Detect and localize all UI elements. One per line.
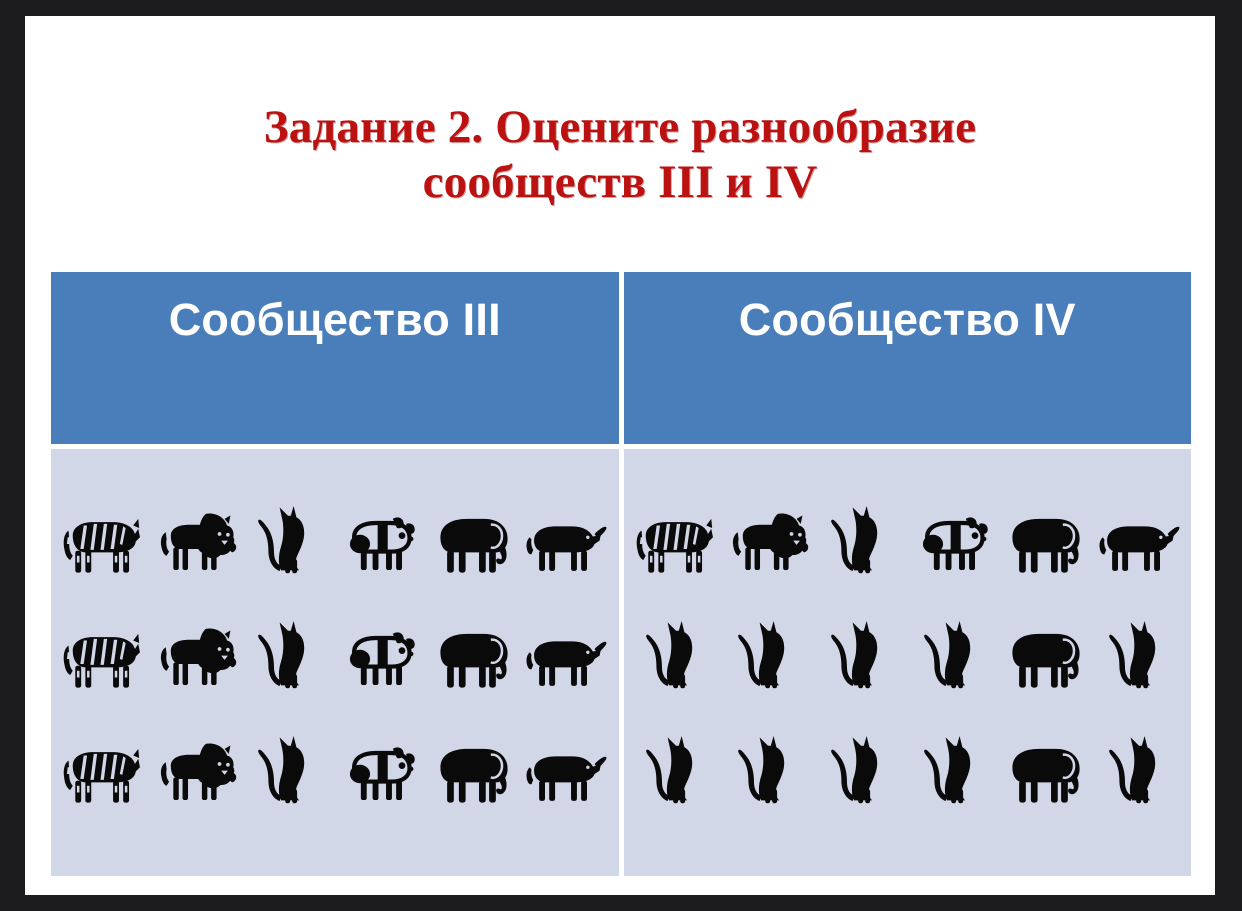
- elephant-icon: [1004, 480, 1088, 576]
- cat-icon: [1097, 710, 1181, 806]
- tiger-icon: [61, 480, 145, 576]
- cat-icon: [819, 710, 903, 806]
- communities-table: Сообщество III Сообщество IV: [51, 272, 1191, 876]
- rhino-icon: [1097, 480, 1181, 576]
- elephant-icon: [432, 710, 516, 806]
- table-header-row: Сообщество III Сообщество IV: [51, 272, 1191, 444]
- cat-icon: [246, 480, 330, 576]
- community-3-cell: [51, 449, 619, 876]
- cat-icon: [726, 710, 810, 806]
- table-body-row: [51, 449, 1191, 876]
- panda-icon: [339, 710, 423, 806]
- lion-icon: [154, 480, 238, 576]
- rhino-icon: [524, 480, 608, 576]
- elephant-icon: [1004, 710, 1088, 806]
- tiger-icon: [634, 480, 718, 576]
- column-header-community-3: Сообщество III: [51, 272, 619, 444]
- cat-icon: [819, 480, 903, 576]
- animal-row: [630, 461, 1186, 576]
- panda-icon: [339, 595, 423, 691]
- elephant-icon: [432, 480, 516, 576]
- animal-row: [57, 691, 613, 806]
- animal-row: [630, 576, 1186, 691]
- slide-frame: Задание 2. Оцените разнообразие сообщест…: [0, 0, 1242, 911]
- rhino-icon: [524, 710, 608, 806]
- tiger-icon: [61, 710, 145, 806]
- elephant-icon: [1004, 595, 1088, 691]
- slide-canvas: Задание 2. Оцените разнообразие сообщест…: [25, 16, 1215, 895]
- panda-icon: [912, 480, 996, 576]
- lion-icon: [154, 710, 238, 806]
- elephant-icon: [432, 595, 516, 691]
- column-header-community-4: Сообщество IV: [624, 272, 1192, 444]
- cat-icon: [634, 710, 718, 806]
- lion-icon: [726, 480, 810, 576]
- animal-row: [57, 576, 613, 691]
- community-4-cell: [624, 449, 1192, 876]
- tiger-icon: [61, 595, 145, 691]
- cat-icon: [246, 710, 330, 806]
- rhino-icon: [524, 595, 608, 691]
- animal-row: [57, 461, 613, 576]
- cat-icon: [912, 595, 996, 691]
- cat-icon: [819, 595, 903, 691]
- page-title: Задание 2. Оцените разнообразие сообщест…: [25, 100, 1215, 210]
- cat-icon: [1097, 595, 1181, 691]
- cat-icon: [726, 595, 810, 691]
- lion-icon: [154, 595, 238, 691]
- panda-icon: [339, 480, 423, 576]
- cat-icon: [634, 595, 718, 691]
- cat-icon: [912, 710, 996, 806]
- cat-icon: [246, 595, 330, 691]
- animal-row: [630, 691, 1186, 806]
